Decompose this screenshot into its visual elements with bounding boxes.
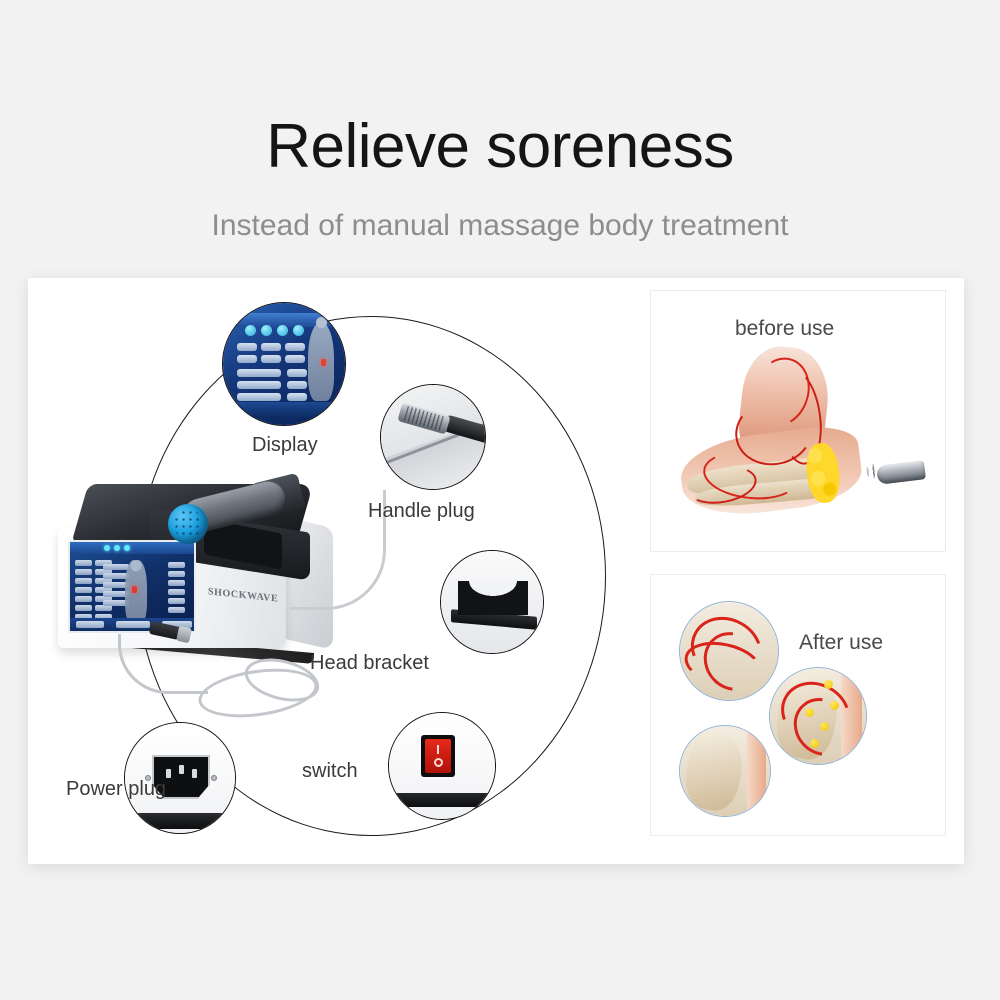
machine-touchscreen[interactable] [68, 540, 196, 633]
parts-diagram-panel: SHOCKWAVE [50, 288, 642, 854]
screen-region-button[interactable] [168, 571, 185, 577]
socket-screw [211, 775, 217, 781]
display-status-dot [261, 325, 272, 336]
screen-option-button[interactable] [75, 605, 92, 611]
tissue-microcirculation-icon [769, 667, 867, 765]
tissue-microcirculation-icon [679, 601, 779, 701]
callout-label-head-bracket: Head bracket [310, 652, 429, 675]
display-button [237, 355, 257, 363]
switch-rocker[interactable] [425, 739, 451, 773]
screen-bottom-button[interactable] [116, 621, 150, 628]
switch-on-mark [437, 745, 439, 754]
socket-pin [166, 769, 171, 778]
callout-bubble-head-bracket [440, 550, 544, 654]
content-card: SHOCKWAVE [28, 278, 964, 864]
display-body-head [316, 317, 327, 328]
calcification-fragment [805, 708, 814, 717]
switch-panel-strip [389, 793, 495, 807]
screen-option-button[interactable] [75, 587, 92, 593]
display-bottom-bar [223, 402, 345, 418]
screen-option-button[interactable] [75, 578, 92, 584]
display-row-button [237, 369, 281, 377]
before-use-panel: before use [650, 290, 946, 552]
calcification-fragment [830, 701, 839, 710]
callout-bubble-switch [388, 712, 496, 820]
display-button [287, 369, 307, 377]
display-button [287, 393, 307, 401]
before-use-title: before use [735, 317, 834, 341]
callout-label-power-plug: Power plug [66, 778, 166, 801]
switch-off-mark [434, 758, 443, 767]
screen-option-button[interactable] [75, 560, 92, 566]
screen-treatment-point-marker [132, 586, 137, 593]
power-cable-tail [118, 634, 208, 694]
page-headline: Relieve soreness [0, 116, 1000, 178]
display-row-button [237, 393, 281, 401]
screen-region-button[interactable] [168, 589, 185, 595]
callout-bubble-display [222, 302, 346, 426]
display-status-dot [245, 325, 256, 336]
callout-label-display: Display [252, 434, 318, 457]
screen-region-button[interactable] [168, 607, 185, 613]
display-treatment-marker [321, 359, 326, 366]
calcification-fragment [824, 680, 833, 689]
tissue-microcirculation-icon [679, 725, 771, 817]
screen-region-button[interactable] [168, 598, 185, 604]
screen-status-dot [104, 545, 110, 551]
power-panel-strip [125, 813, 235, 829]
callout-bubble-handle-plug [380, 384, 486, 490]
cradle-bracket-icon [458, 581, 528, 615]
callout-label-handle-plug: Handle plug [368, 500, 475, 523]
calcification-fragment [820, 722, 829, 731]
screen-region-button[interactable] [168, 580, 185, 586]
screen-bottom-button[interactable] [76, 621, 104, 628]
screen-top-bar [70, 542, 194, 554]
callout-label-switch: switch [302, 760, 358, 783]
display-button [261, 355, 281, 363]
display-status-dot [277, 325, 288, 336]
skin-layer [747, 726, 767, 816]
page-subheadline: Instead of manual massage body treatment [0, 208, 1000, 244]
display-button [285, 343, 305, 351]
display-status-dot [293, 325, 304, 336]
massage-head-icon [168, 504, 208, 544]
socket-pin [179, 765, 184, 774]
socket-pin [192, 769, 197, 778]
display-button [285, 355, 305, 363]
shockwave-machine-image: SHOCKWAVE [58, 484, 358, 669]
product-infographic-page: Relieve soreness Instead of manual massa… [0, 0, 1000, 1000]
display-button [237, 343, 257, 351]
elbow-anatomy-calcification-icon [681, 347, 927, 537]
treatment-probe-icon [876, 460, 926, 485]
screen-option-button[interactable] [75, 569, 92, 575]
display-button [287, 381, 307, 389]
shockwave-pulse-icon [836, 459, 880, 487]
rocker-switch-icon[interactable] [421, 735, 455, 777]
screen-status-dot [124, 545, 130, 551]
screen-option-button[interactable] [75, 596, 92, 602]
screen-region-button[interactable] [168, 562, 185, 568]
after-use-panel: After use [650, 574, 946, 836]
after-use-title: After use [799, 631, 883, 655]
screen-menu-button[interactable] [103, 564, 129, 570]
screen-status-dot [114, 545, 120, 551]
display-button [261, 343, 281, 351]
display-row-button [237, 381, 281, 389]
